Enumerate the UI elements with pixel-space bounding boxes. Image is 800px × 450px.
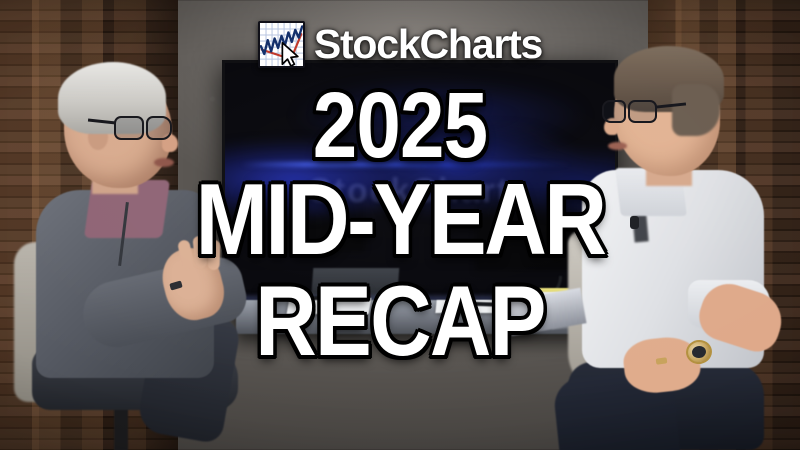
watch-face <box>691 345 707 359</box>
desk-paper-left <box>287 298 372 314</box>
stockcharts-logo-lockup[interactable]: StockCharts <box>0 21 800 68</box>
lapel-microphone-icon <box>630 216 639 229</box>
host-left <box>0 62 296 450</box>
video-thumbnail[interactable]: StockCharts <box>0 0 800 450</box>
host-left-mouth <box>154 158 174 167</box>
host-left-glasses <box>114 116 176 140</box>
glasses-lens-right <box>628 100 657 123</box>
glasses-lens-left <box>602 100 626 123</box>
glasses-lens-right <box>146 116 172 140</box>
stockcharts-wordmark: StockCharts <box>314 24 542 65</box>
host-right-hair-side <box>672 84 720 136</box>
stockcharts-chart-logo-icon <box>258 21 305 68</box>
host-left-finger-3 <box>207 240 220 270</box>
host-right-glasses <box>602 100 668 124</box>
host-right-mouth <box>608 142 627 150</box>
tv-ghost-text: StockCharts <box>245 174 596 218</box>
glasses-lens-left <box>114 116 144 140</box>
host-right <box>560 44 800 450</box>
